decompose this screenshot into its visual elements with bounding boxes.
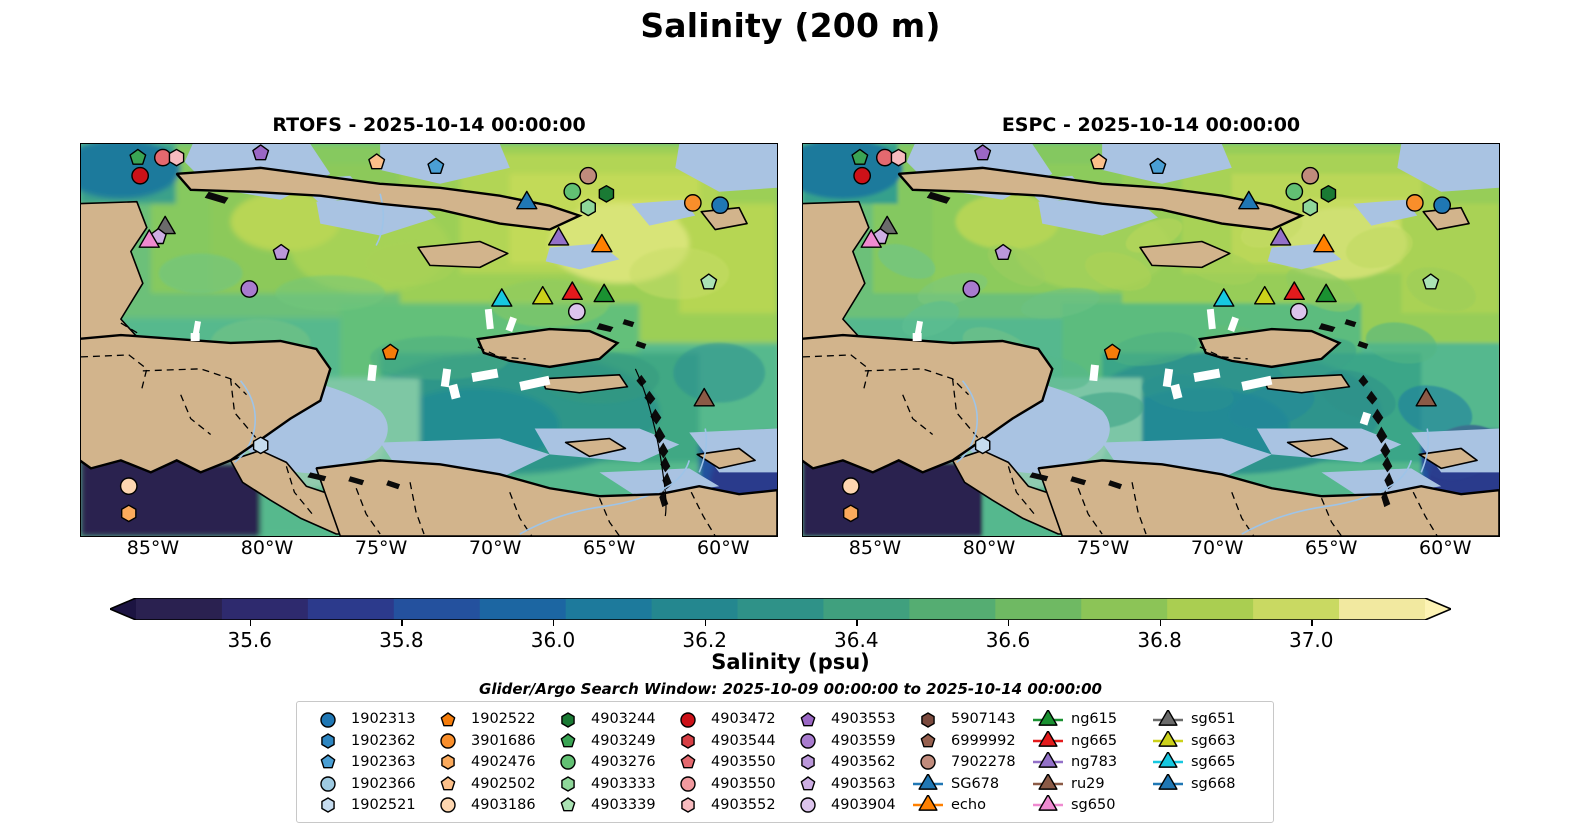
legend-symbol[interactable] xyxy=(562,777,574,791)
legend-item-echo[interactable]: echo xyxy=(905,795,1025,816)
marker-ng665[interactable] xyxy=(562,282,582,299)
panel-title-rtofs: RTOFS - 2025-10-14 00:00:00 xyxy=(80,114,778,136)
marker-SG678[interactable] xyxy=(1239,191,1259,208)
triangle-marker-icon xyxy=(1151,731,1185,751)
legend-symbol[interactable] xyxy=(922,713,934,727)
y-tick-minor xyxy=(80,264,81,265)
marker-4903559[interactable] xyxy=(241,281,257,297)
marker-ru29[interactable] xyxy=(1416,389,1436,406)
legend-symbol[interactable] xyxy=(441,734,455,748)
y-tick-minor xyxy=(80,173,81,174)
map-canvas-espc[interactable]: 10°N15°N20°N xyxy=(802,143,1500,537)
legend-symbol[interactable] xyxy=(1159,752,1177,767)
marker-4902502[interactable] xyxy=(369,154,385,169)
legend-symbol[interactable] xyxy=(801,798,815,812)
y-tick-minor xyxy=(80,536,81,537)
y-tick xyxy=(1499,355,1500,356)
marker-4903552[interactable] xyxy=(891,149,905,165)
legend-symbol[interactable] xyxy=(441,713,454,726)
legend-item-label: 1902313 xyxy=(351,712,416,727)
x-tick-minor xyxy=(1171,536,1172,537)
colorbar-tick-label: 37.0 xyxy=(1289,628,1334,652)
colorbar-tick xyxy=(1160,620,1161,626)
legend-symbol[interactable] xyxy=(442,755,454,769)
colorbar-tick xyxy=(705,620,706,626)
marker-1902313[interactable] xyxy=(712,197,728,213)
marker-4903472[interactable] xyxy=(854,168,870,184)
marker-4903339[interactable] xyxy=(701,274,717,289)
colorbar-tick-label: 36.8 xyxy=(1137,628,1182,652)
circle-marker-icon xyxy=(671,774,705,794)
hexagon-marker-icon xyxy=(311,795,345,815)
marker-4903244[interactable] xyxy=(1321,186,1335,202)
pentagon-marker-icon xyxy=(431,710,465,730)
colorbar-segment xyxy=(136,598,223,620)
legend-item-label: 4903563 xyxy=(831,777,896,792)
legend-symbol[interactable] xyxy=(1039,752,1057,767)
y-tick-minor xyxy=(80,423,81,424)
marker-sg663[interactable] xyxy=(1255,287,1275,304)
legend-item-4903550[interactable]: 4903550 xyxy=(665,752,785,773)
y-tick-minor xyxy=(80,513,81,514)
marker-ng615[interactable] xyxy=(594,284,614,301)
marker-1902521[interactable] xyxy=(254,437,268,453)
marker-4903553[interactable] xyxy=(253,145,269,160)
y-tick-minor xyxy=(1499,513,1500,514)
legend-symbol[interactable] xyxy=(1159,774,1177,789)
colorbar-under-arrow xyxy=(110,598,136,620)
legend-item-1902362[interactable]: 1902362 xyxy=(305,730,425,751)
x-tick-label: 80°W xyxy=(241,537,293,559)
legend-symbol[interactable] xyxy=(321,713,335,727)
y-tick-minor xyxy=(1499,400,1500,401)
pentagon-marker-icon xyxy=(911,731,945,751)
legend-item-ru29[interactable]: ru29 xyxy=(1025,773,1145,794)
legend-item-label: sg663 xyxy=(1191,734,1235,749)
marker-ng783[interactable] xyxy=(1271,228,1291,245)
legend-item-label: 1902521 xyxy=(351,798,416,813)
legend-item-4903562[interactable]: 4903562 xyxy=(785,752,905,773)
legend-symbol[interactable] xyxy=(1039,795,1057,810)
legend-item-label: 3901686 xyxy=(471,734,536,749)
circle-marker-icon xyxy=(431,731,465,751)
marker-sg665[interactable] xyxy=(492,289,512,306)
triangle-marker-icon xyxy=(1031,710,1065,730)
x-tick-label: 85°W xyxy=(849,537,901,559)
legend-item-4903553[interactable]: 4903553 xyxy=(785,709,905,730)
marker-echo[interactable] xyxy=(592,234,612,251)
legend-item-sg651[interactable]: sg651 xyxy=(1145,709,1265,730)
legend-item-sg665[interactable]: sg665 xyxy=(1145,752,1265,773)
x-tick-label: 60°W xyxy=(1419,537,1471,559)
y-tick-minor xyxy=(80,377,81,378)
marker-4903333[interactable] xyxy=(1303,199,1317,215)
legend-symbol[interactable] xyxy=(919,774,937,789)
legend-symbol[interactable] xyxy=(1159,710,1177,725)
legend-symbol[interactable] xyxy=(321,777,335,791)
colorbar-tick-label: 36.6 xyxy=(986,628,1031,652)
triangle-marker-icon xyxy=(1151,710,1185,730)
triangle-marker-icon xyxy=(1151,774,1185,794)
legend-item-label: 4903562 xyxy=(831,755,896,770)
pentagon-marker-icon xyxy=(671,752,705,772)
y-tick-minor xyxy=(1499,264,1500,265)
legend-symbol[interactable] xyxy=(1039,731,1057,746)
marker-1902363[interactable] xyxy=(1150,158,1166,173)
colorbar-segment xyxy=(394,598,481,620)
x-tick-minor xyxy=(768,536,769,537)
legend-symbol[interactable] xyxy=(561,798,574,811)
platform-legend: 1902313190236219023631902366190252119025… xyxy=(296,701,1274,823)
pentagon-marker-icon xyxy=(791,710,825,730)
legend-item-label: 4903339 xyxy=(591,798,656,813)
y-tick-minor xyxy=(80,400,81,401)
y-tick-minor xyxy=(80,287,81,288)
marker-4903339[interactable] xyxy=(1423,274,1439,289)
triangle-marker-icon xyxy=(1031,774,1065,794)
legend-symbol[interactable] xyxy=(322,798,334,812)
pentagon-marker-icon xyxy=(431,774,465,794)
x-tick-label: 70°W xyxy=(469,537,521,559)
x-tick-minor xyxy=(654,536,655,537)
x-tick-label: 75°W xyxy=(1077,537,1129,559)
legend-symbol[interactable] xyxy=(1039,774,1057,789)
legend-item-label: 5907143 xyxy=(951,712,1016,727)
legend-item-label: 4903550 xyxy=(711,777,776,792)
legend-item-label: 4903472 xyxy=(711,712,776,727)
marker-4903249[interactable] xyxy=(130,149,146,164)
legend-symbol[interactable] xyxy=(682,734,694,748)
marker-1902313[interactable] xyxy=(1434,197,1450,213)
legend-item-4902502[interactable]: 4902502 xyxy=(425,773,545,794)
legend-symbol[interactable] xyxy=(561,755,575,769)
marker-4903559[interactable] xyxy=(963,281,979,297)
legend-item-4903472[interactable]: 4903472 xyxy=(665,709,785,730)
x-tick-label: 60°W xyxy=(697,537,749,559)
map-canvas-rtofs[interactable]: 10°N15°N20°N xyxy=(80,143,778,537)
hexagon-marker-icon xyxy=(551,710,585,730)
legend-item-4902476[interactable]: 4902476 xyxy=(425,752,545,773)
y-tick-minor xyxy=(80,491,81,492)
marker-ng615[interactable] xyxy=(1316,284,1336,301)
legend-item-label: 4903244 xyxy=(591,712,656,727)
colorbar-segment xyxy=(480,598,567,620)
marker-3901686[interactable] xyxy=(1407,195,1423,211)
legend-item-5907143[interactable]: 5907143 xyxy=(905,709,1025,730)
marker-4902502[interactable] xyxy=(1091,154,1107,169)
legend-item-SG678[interactable]: SG678 xyxy=(905,773,1025,794)
marker-SG678[interactable] xyxy=(517,191,537,208)
legend-item-label: sg651 xyxy=(1191,712,1235,727)
legend-item-4903544[interactable]: 4903544 xyxy=(665,730,785,751)
legend-item-7902278[interactable]: 7902278 xyxy=(905,752,1025,773)
marker-4903904[interactable] xyxy=(1291,304,1307,320)
y-tick-minor xyxy=(80,151,81,152)
hexagon-marker-icon xyxy=(791,752,825,772)
legend-symbol[interactable] xyxy=(441,798,455,812)
legend-item-label: 1902363 xyxy=(351,755,416,770)
y-tick-minor xyxy=(80,196,81,197)
x-tick-minor xyxy=(944,536,945,537)
hexagon-marker-icon xyxy=(911,710,945,730)
legend-symbol[interactable] xyxy=(921,755,935,769)
colorbar-tick xyxy=(250,620,251,626)
marker-4903276[interactable] xyxy=(564,183,580,199)
legend-item-label: 4903544 xyxy=(711,734,776,749)
x-tick-minor xyxy=(449,536,450,537)
y-tick xyxy=(80,241,81,242)
x-tick-label: 70°W xyxy=(1191,537,1243,559)
x-tick-minor xyxy=(677,536,678,537)
legend-item-sg663[interactable]: sg663 xyxy=(1145,730,1265,751)
colorbar-gradient xyxy=(110,598,1451,620)
x-tick-label: 80°W xyxy=(963,537,1015,559)
legend-caption: Glider/Argo Search Window: 2025-10-09 00… xyxy=(0,680,1581,698)
legend-item-4903552[interactable]: 4903552 xyxy=(665,795,785,816)
legend-item-4903904[interactable]: 4903904 xyxy=(785,795,905,816)
y-tick-minor xyxy=(1499,219,1500,220)
marker-7902278[interactable] xyxy=(1302,168,1318,184)
legend-item-4903559[interactable]: 4903559 xyxy=(785,730,905,751)
colorbar-over-arrow xyxy=(1425,598,1451,620)
marker-4903562[interactable] xyxy=(995,245,1011,260)
marker-1902363[interactable] xyxy=(428,158,444,173)
legend-item-1902521[interactable]: 1902521 xyxy=(305,795,425,816)
marker-4902476[interactable] xyxy=(122,505,136,521)
legend-symbol[interactable] xyxy=(801,734,815,748)
legend-item-label: 4903553 xyxy=(831,712,896,727)
marker-4903186[interactable] xyxy=(121,478,137,494)
platform-markers-espc[interactable] xyxy=(803,144,1499,536)
marker-sg665[interactable] xyxy=(1214,289,1234,306)
legend-item-1902366[interactable]: 1902366 xyxy=(305,773,425,794)
marker-ru29[interactable] xyxy=(694,389,714,406)
legend-symbol[interactable] xyxy=(682,798,694,812)
y-tick-minor xyxy=(80,219,81,220)
x-tick-label: 75°W xyxy=(355,537,407,559)
x-tick-minor xyxy=(108,536,109,537)
legend-item-1902363[interactable]: 1902363 xyxy=(305,752,425,773)
marker-4903244[interactable] xyxy=(599,186,613,202)
legend-item-sg668[interactable]: sg668 xyxy=(1145,773,1265,794)
x-tick-label: 65°W xyxy=(583,537,635,559)
x-tick-minor xyxy=(1376,536,1377,537)
legend-symbol[interactable] xyxy=(801,713,814,726)
y-tick-minor xyxy=(1499,173,1500,174)
marker-4903553[interactable] xyxy=(975,145,991,160)
y-tick-minor xyxy=(80,445,81,446)
colorbar-segment xyxy=(909,598,996,620)
legend-item-label: 4903276 xyxy=(591,755,656,770)
colorbar-segment xyxy=(566,598,653,620)
legend-item-label: 4903186 xyxy=(471,798,536,813)
colorbar-tick-label: 36.0 xyxy=(531,628,576,652)
legend-item-label: 1902366 xyxy=(351,777,416,792)
x-tick-minor xyxy=(313,536,314,537)
marker-4903550[interactable] xyxy=(877,149,893,165)
circle-marker-icon xyxy=(551,752,585,772)
marker-sg663[interactable] xyxy=(533,287,553,304)
x-tick-minor xyxy=(336,536,337,537)
legend-item-label: 4903904 xyxy=(831,798,896,813)
colorbar-segment xyxy=(652,598,739,620)
y-tick-minor xyxy=(80,309,81,310)
x-tick-minor xyxy=(563,536,564,537)
marker-4903186[interactable] xyxy=(843,478,859,494)
marker-4902476[interactable] xyxy=(844,505,858,521)
legend-symbol[interactable] xyxy=(561,734,574,747)
map-panel-rtofs: RTOFS - 2025-10-14 00:00:00 xyxy=(80,143,778,537)
marker-echo[interactable] xyxy=(1314,234,1334,251)
legend-symbol[interactable] xyxy=(681,777,695,791)
x-tick-minor xyxy=(1262,536,1263,537)
legend-symbol[interactable] xyxy=(802,755,814,769)
triangle-marker-icon xyxy=(1031,752,1065,772)
colorbar-tick xyxy=(856,620,857,626)
marker-1902522[interactable] xyxy=(383,344,399,359)
marker-4903333[interactable] xyxy=(581,199,595,215)
circle-marker-icon xyxy=(911,752,945,772)
x-tick-minor xyxy=(1285,536,1286,537)
legend-item-4903339[interactable]: 4903339 xyxy=(545,795,665,816)
legend-item-3901686[interactable]: 3901686 xyxy=(425,730,545,751)
x-tick-label: 85°W xyxy=(127,537,179,559)
y-tick-minor xyxy=(1499,332,1500,333)
circle-marker-icon xyxy=(791,795,825,815)
x-tick-minor xyxy=(199,536,200,537)
legend-symbol[interactable] xyxy=(441,777,454,790)
y-tick-minor xyxy=(1499,536,1500,537)
colorbar[interactable] xyxy=(110,598,1451,620)
legend-item-label: 4903333 xyxy=(591,777,656,792)
y-tick-minor xyxy=(1499,196,1500,197)
circle-marker-icon xyxy=(311,774,345,794)
marker-1902521[interactable] xyxy=(976,437,990,453)
hexagon-marker-icon xyxy=(431,752,465,772)
legend-item-4903550[interactable]: 4903550 xyxy=(665,773,785,794)
legend-symbol[interactable] xyxy=(801,777,814,790)
legend-item-ng783[interactable]: ng783 xyxy=(1025,752,1145,773)
legend-item-label: ru29 xyxy=(1071,777,1105,792)
marker-ng783[interactable] xyxy=(549,228,569,245)
y-tick-minor xyxy=(1499,287,1500,288)
x-tick-label: 65°W xyxy=(1305,537,1357,559)
colorbar-segment xyxy=(823,598,910,620)
legend-symbol[interactable] xyxy=(321,755,334,768)
legend-item-sg650[interactable]: sg650 xyxy=(1025,795,1145,816)
colorbar-tick xyxy=(1311,620,1312,626)
legend-item-ng615[interactable]: ng615 xyxy=(1025,709,1145,730)
colorbar-tick-label: 36.4 xyxy=(834,628,879,652)
colorbar-ticks: 35.635.836.036.236.436.636.837.0 xyxy=(110,620,1451,654)
colorbar-tick-label: 36.2 xyxy=(682,628,727,652)
hexagon-marker-icon xyxy=(671,731,705,751)
legend-item-label: ng783 xyxy=(1071,755,1117,770)
marker-4903550[interactable] xyxy=(155,149,171,165)
legend-symbol[interactable] xyxy=(562,713,574,727)
legend-item-label: 6999992 xyxy=(951,734,1016,749)
y-tick xyxy=(1499,468,1500,469)
circle-marker-icon xyxy=(791,731,825,751)
x-tick-minor xyxy=(921,536,922,537)
y-tick-minor xyxy=(1499,491,1500,492)
hexagon-marker-icon xyxy=(671,795,705,815)
x-tick-minor xyxy=(1058,536,1059,537)
colorbar-segment xyxy=(222,598,309,620)
x-tick-minor xyxy=(830,536,831,537)
legend-item-4903276[interactable]: 4903276 xyxy=(545,752,665,773)
marker-4903552[interactable] xyxy=(169,149,183,165)
legend-item-4903244[interactable]: 4903244 xyxy=(545,709,665,730)
page-title: Salinity (200 m) xyxy=(0,6,1581,45)
marker-ng665[interactable] xyxy=(1284,282,1304,299)
legend-symbol[interactable] xyxy=(1159,731,1177,746)
legend-item-4903249[interactable]: 4903249 xyxy=(545,730,665,751)
marker-4903904[interactable] xyxy=(569,304,585,320)
marker-1902522[interactable] xyxy=(1105,344,1121,359)
y-tick-minor xyxy=(1499,423,1500,424)
legend-symbol[interactable] xyxy=(1039,710,1057,725)
y-tick-minor xyxy=(1499,309,1500,310)
legend-symbol[interactable] xyxy=(681,755,694,768)
legend-item-4903333[interactable]: 4903333 xyxy=(545,773,665,794)
legend-symbol[interactable] xyxy=(322,734,334,748)
legend-item-label: 1902362 xyxy=(351,734,416,749)
legend-item-label: sg650 xyxy=(1071,798,1115,813)
x-tick-minor xyxy=(1035,536,1036,537)
marker-4903472[interactable] xyxy=(132,168,148,184)
legend-item-label: 4903559 xyxy=(831,734,896,749)
marker-4903276[interactable] xyxy=(1286,183,1302,199)
legend-item-label: sg668 xyxy=(1191,777,1235,792)
x-tick-minor xyxy=(1149,536,1150,537)
colorbar-tick xyxy=(1008,620,1009,626)
x-tick-minor xyxy=(427,536,428,537)
pentagon-marker-icon xyxy=(551,731,585,751)
pentagon-marker-icon xyxy=(551,795,585,815)
y-tick-minor xyxy=(1499,151,1500,152)
legend-item-4903186[interactable]: 4903186 xyxy=(425,795,545,816)
marker-7902278[interactable] xyxy=(580,168,596,184)
panel-title-espc: ESPC - 2025-10-14 00:00:00 xyxy=(802,114,1500,136)
legend-symbol[interactable] xyxy=(921,734,934,747)
x-tick-minor xyxy=(86,536,87,537)
legend-item-label: echo xyxy=(951,798,986,813)
colorbar-segment xyxy=(1339,598,1426,620)
legend-symbol[interactable] xyxy=(681,713,695,727)
marker-4903562[interactable] xyxy=(273,245,289,260)
colorbar-label: Salinity (psu) xyxy=(0,650,1581,674)
colorbar-tick xyxy=(401,620,402,626)
colorbar-segment xyxy=(308,598,395,620)
legend-item-6999992[interactable]: 6999992 xyxy=(905,730,1025,751)
marker-4903249[interactable] xyxy=(852,149,868,164)
platform-markers-rtofs[interactable] xyxy=(81,144,777,536)
legend-item-ng665[interactable]: ng665 xyxy=(1025,730,1145,751)
legend-item-label: sg665 xyxy=(1191,755,1235,770)
triangle-marker-icon xyxy=(1151,752,1185,772)
legend-item-1902522[interactable]: 1902522 xyxy=(425,709,545,730)
colorbar-tick-label: 35.6 xyxy=(227,628,272,652)
legend-symbol[interactable] xyxy=(919,795,937,810)
marker-3901686[interactable] xyxy=(685,195,701,211)
x-tick-minor xyxy=(1490,536,1491,537)
legend-item-label: ng665 xyxy=(1071,734,1117,749)
legend-item-4903563[interactable]: 4903563 xyxy=(785,773,905,794)
legend-item-1902313[interactable]: 1902313 xyxy=(305,709,425,730)
y-tick xyxy=(80,468,81,469)
x-tick-minor xyxy=(1399,536,1400,537)
